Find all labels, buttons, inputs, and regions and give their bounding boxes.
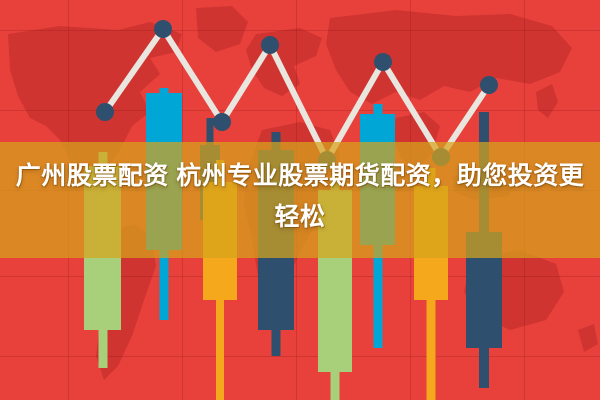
finance-banner: 广州股票配资 杭州专业股票期货配资，助您投资更轻松 xyxy=(0,0,600,400)
candle-9-body xyxy=(466,232,502,348)
headline-text: 广州股票配资 杭州专业股票期货配资，助您投资更轻松 xyxy=(0,156,600,238)
